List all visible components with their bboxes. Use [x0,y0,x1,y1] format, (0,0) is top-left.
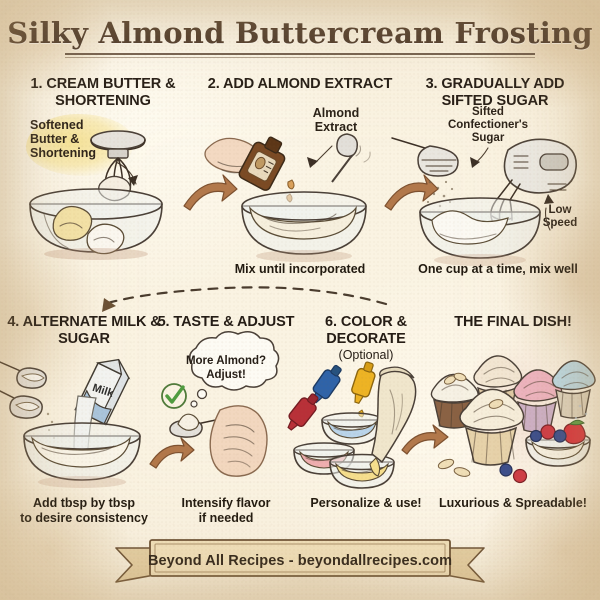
thought-bubble: More Almond? Adjust! [186,332,279,407]
spoon-icon [0,390,42,418]
poster-title-block: Silky Almond Buttercream Frosting [0,16,600,58]
step-4-heading: 4. ALTERNATE MILK & SUGAR [6,314,162,347]
raspberry [541,425,555,439]
final-dish-heading: THE FINAL DISH! [430,314,596,331]
blueberry [500,464,512,476]
step-2-illustration [200,128,400,268]
spoon-icon [0,362,46,388]
step-2-heading: 2. ADD ALMOND EXTRACT [200,76,400,93]
step-4-illustration: Milk [6,352,162,492]
sieve-icon [392,138,458,176]
callout-arrowhead [470,157,480,168]
bowl-blue [322,413,382,444]
dye-bottle-yellow [348,360,378,406]
title-underline-thin [65,57,535,58]
step-1: 1. CREAM BUTTER & SHORTENING SoftenedBut… [8,76,198,266]
step-6-caption: Personalize & use! [292,496,440,511]
final-dish-illustration [430,336,596,486]
footer-banner-text: Beyond All Recipes - beyondallrecipes.co… [114,538,486,584]
step-5: 5. TASTE & ADJUST More Almond? Adjust! [156,314,296,529]
bowl-shadow [44,248,148,260]
callout-arrowhead [307,157,318,168]
final-dish-caption: Luxurious & Spreadable! [430,496,596,511]
step-3-illustration [400,124,596,274]
dashed-arrowhead [102,298,116,312]
extract-drop [288,180,294,189]
bowl-shadow [256,250,352,262]
bubble-line-1: More Almond? [186,355,266,367]
step-4-caption: Add tbsp by tbspto desire consistency [6,496,162,525]
step-6-heading: 6. COLOR &DECORATE(Optional) [292,314,440,364]
step-1-heading: 1. CREAM BUTTER & SHORTENING [8,76,198,109]
check-icon [162,384,186,408]
step-6: 6. COLOR &DECORATE(Optional) [292,314,440,529]
low-speed-arrow [546,208,551,230]
arrow-row1-to-row2 [58,274,388,318]
footer-ribbon: Beyond All Recipes - beyondallrecipes.co… [114,538,486,584]
low-speed-arrowhead [544,194,554,204]
almond-slice [453,466,470,478]
step-2: 2. ADD ALMOND EXTRACT AlmondExtract [200,76,400,276]
step-1-illustration [8,134,198,264]
step-6-subheading: (Optional) [292,347,440,364]
title-underline [65,53,535,55]
recipe-infographic: Silky Almond Buttercream Frosting 1. CRE… [0,0,600,600]
step-3-caption: One cup at a time, mix well [400,262,596,277]
step-5-caption: Intensify flavorif needed [156,496,296,525]
step-3-heading: 3. GRADUALLY ADD SIFTED SUGAR [400,76,590,109]
step-5-heading: 5. TASTE & ADJUST [156,314,296,331]
spoon-icon [332,134,357,182]
blueberry [531,431,542,442]
step-4: 4. ALTERNATE MILK & SUGAR [6,314,162,529]
strawberry [564,423,585,444]
extract-bottle [238,132,291,192]
raspberry [514,470,527,483]
bowl-shadow [38,476,126,488]
almond-slice [437,458,455,471]
final-dish: THE FINAL DISH! [430,314,596,529]
hand-icon [210,406,267,476]
blueberry [554,430,566,442]
step-3: 3. GRADUALLY ADD SIFTED SUGAR SiftedConf… [400,76,596,276]
page-title: Silky Almond Buttercream Frosting [0,16,600,50]
step-5-illustration: More Almond? Adjust! [156,336,296,486]
strawberry-leaf [570,420,584,425]
bubble-line-2: Adjust! [206,369,246,381]
